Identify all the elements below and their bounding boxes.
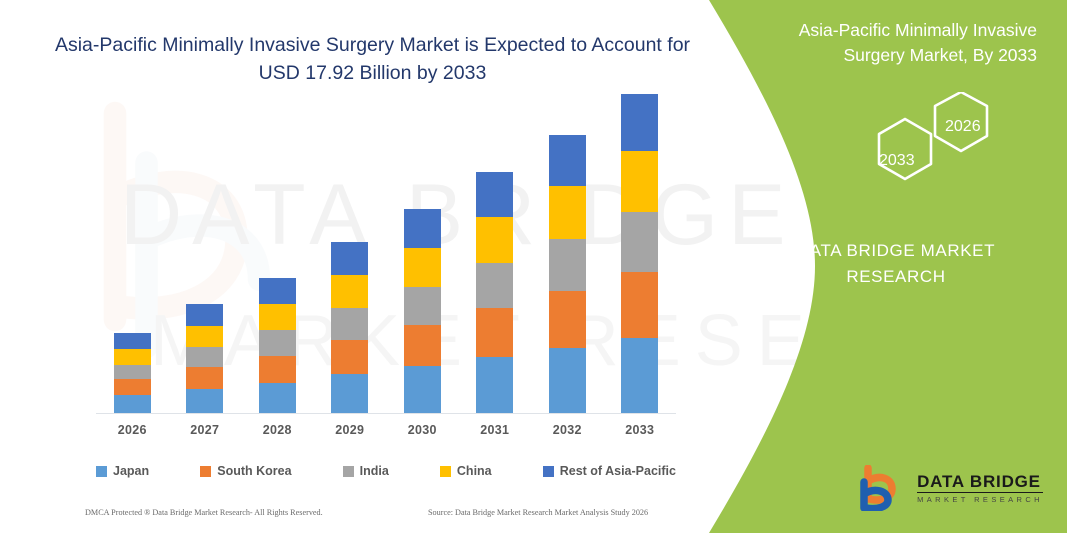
- legend-item[interactable]: South Korea: [200, 464, 291, 478]
- bar-segment: [114, 349, 151, 365]
- bar-column: [459, 172, 531, 413]
- legend-item[interactable]: Japan: [96, 464, 149, 478]
- bar-segment: [331, 308, 368, 340]
- x-axis-label: 2027: [169, 423, 241, 437]
- legend-swatch-icon: [96, 466, 107, 477]
- bar-segment: [331, 374, 368, 413]
- page-title: Asia-Pacific Minimally Invasive Surgery …: [40, 32, 705, 87]
- bar-column: [386, 209, 458, 413]
- infographic-page: DATA BRIDGE MARKET RESEARCH Asia-Pacific…: [0, 0, 1067, 533]
- stacked-bar: [404, 209, 441, 413]
- bar-segment: [476, 217, 513, 263]
- stacked-bar: [259, 278, 296, 413]
- bar-column: [314, 242, 386, 413]
- legend-swatch-icon: [543, 466, 554, 477]
- stacked-bar: [476, 172, 513, 413]
- bar-segment: [259, 356, 296, 383]
- bar-segment: [404, 325, 441, 366]
- bar-segment: [114, 395, 151, 413]
- stacked-bar: [549, 135, 586, 413]
- data-bridge-b-mark-icon: [859, 465, 909, 511]
- footer-source: Source: Data Bridge Market Research Mark…: [428, 508, 648, 517]
- legend-item[interactable]: India: [343, 464, 389, 478]
- bar-segment: [186, 304, 223, 326]
- brand-logo-main: DATA BRIDGE: [917, 473, 1043, 493]
- legend-label: Japan: [113, 464, 149, 478]
- bar-segment: [404, 287, 441, 325]
- legend-item[interactable]: China: [440, 464, 492, 478]
- bar-segment: [114, 379, 151, 395]
- stacked-bar: [186, 304, 223, 413]
- bar-column: [241, 278, 313, 413]
- bar-segment: [549, 348, 586, 413]
- legend-swatch-icon: [200, 466, 211, 477]
- x-axis-label: 2032: [531, 423, 603, 437]
- bar-segment: [114, 365, 151, 379]
- stacked-bar: [331, 242, 368, 413]
- stacked-bar: [621, 94, 658, 413]
- bar-column: [96, 333, 168, 413]
- legend-label: China: [457, 464, 492, 478]
- bar-segment: [331, 242, 368, 275]
- bar-segment: [259, 330, 296, 355]
- bar-segment: [476, 263, 513, 308]
- bar-segment: [476, 172, 513, 217]
- x-axis-labels: 20262027202820292030203120322033: [96, 423, 676, 437]
- stacked-bar-chart: [96, 118, 676, 413]
- bar-segment: [331, 340, 368, 374]
- bar-column: [531, 135, 603, 413]
- bar-segment: [404, 209, 441, 248]
- bar-segment: [259, 383, 296, 413]
- x-axis-label: 2028: [241, 423, 313, 437]
- bar-segment: [114, 333, 151, 349]
- bar-segment: [549, 291, 586, 348]
- bar-segment: [621, 212, 658, 272]
- bar-column: [169, 304, 241, 413]
- bar-segment: [186, 347, 223, 367]
- legend-swatch-icon: [343, 466, 354, 477]
- bar-segment: [476, 357, 513, 413]
- hexagon-label-2026: 2026: [945, 118, 981, 136]
- stacked-bar: [114, 333, 151, 413]
- x-axis-label: 2030: [386, 423, 458, 437]
- bar-segment: [549, 135, 586, 186]
- bar-segment: [404, 248, 441, 287]
- bar-segment: [621, 272, 658, 338]
- bar-segment: [186, 367, 223, 389]
- bar-segment: [259, 304, 296, 330]
- bar-segment: [331, 275, 368, 308]
- brand-logo-sub: MARKET RESEARCH: [917, 496, 1043, 504]
- legend-item[interactable]: Rest of Asia-Pacific: [543, 464, 676, 478]
- x-axis-label: 2029: [314, 423, 386, 437]
- hexagon-label-2033: 2033: [879, 152, 915, 170]
- bar-column: [604, 94, 676, 413]
- bar-segment: [476, 308, 513, 357]
- bar-segment: [259, 278, 296, 304]
- x-axis-line: [96, 413, 676, 414]
- bar-segment: [404, 366, 441, 413]
- bar-segment: [186, 326, 223, 347]
- legend-label: Rest of Asia-Pacific: [560, 464, 676, 478]
- brand-logo: DATA BRIDGE MARKET RESEARCH: [859, 465, 1043, 511]
- green-panel-heading: Asia-Pacific Minimally Invasive Surgery …: [767, 18, 1037, 69]
- x-axis-label: 2031: [459, 423, 531, 437]
- bar-segment: [621, 151, 658, 212]
- x-axis-label: 2026: [96, 423, 168, 437]
- brand-logo-text: DATA BRIDGE MARKET RESEARCH: [917, 473, 1043, 504]
- legend-label: South Korea: [217, 464, 291, 478]
- bar-segment: [621, 94, 658, 151]
- green-side-panel: Asia-Pacific Minimally Invasive Surgery …: [697, 0, 1067, 533]
- hexagon-badges: 2033 2026: [849, 92, 1019, 204]
- bar-segment: [549, 186, 586, 239]
- footer-copyright: DMCA Protected ® Data Bridge Market Rese…: [85, 508, 323, 517]
- bar-segment: [186, 389, 223, 413]
- green-panel-brand: DATA BRIDGE MARKET RESEARCH: [771, 238, 1021, 289]
- x-axis-label: 2033: [604, 423, 676, 437]
- chart-legend: JapanSouth KoreaIndiaChinaRest of Asia-P…: [96, 464, 676, 478]
- legend-label: India: [360, 464, 389, 478]
- legend-swatch-icon: [440, 466, 451, 477]
- hexagon-outline-icon: [849, 92, 1019, 204]
- bar-segment: [549, 239, 586, 291]
- bar-segment: [621, 338, 658, 413]
